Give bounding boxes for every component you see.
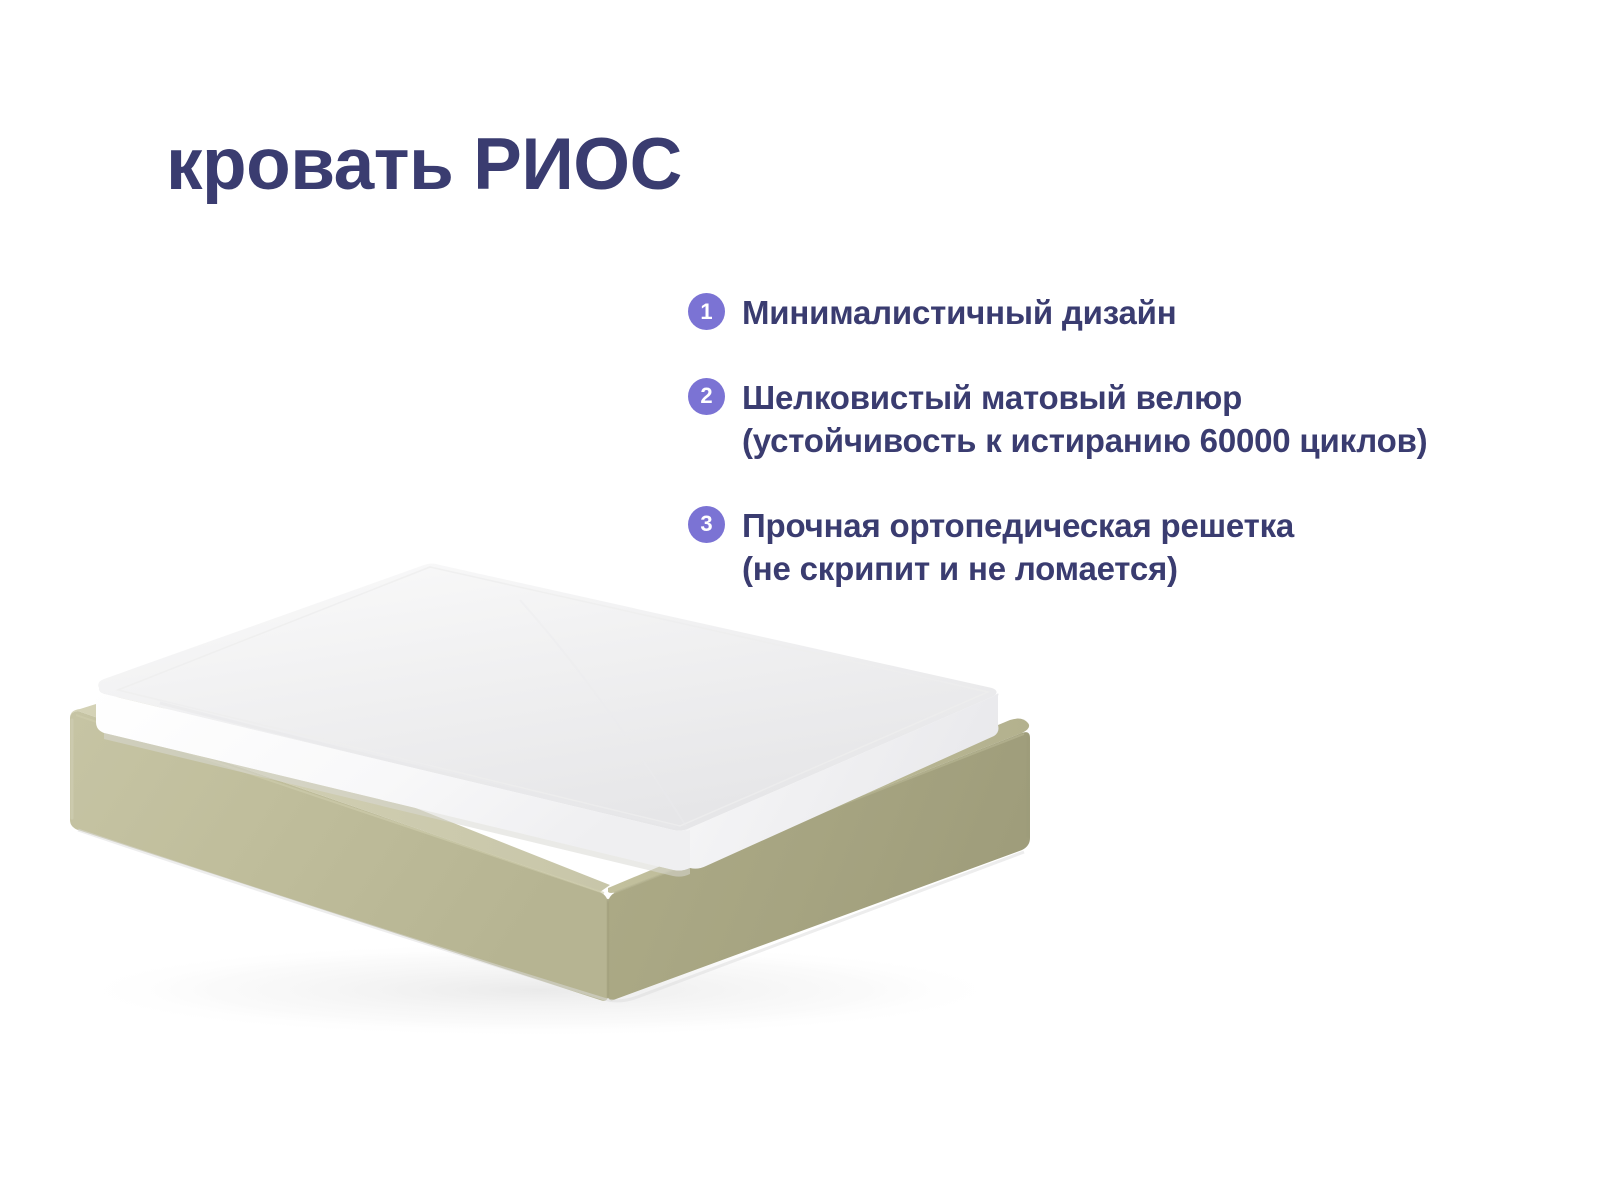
feature-line-3a: Прочная ортопедическая решетка	[742, 507, 1294, 544]
feature-line-1a: Минималистичный дизайн	[742, 294, 1176, 331]
feature-badge-1: 1	[688, 293, 725, 330]
feature-text-1: Минималистичный дизайн	[742, 292, 1176, 335]
feature-item-2: 2 Шелковистый матовый велюр (устойчивост…	[688, 377, 1508, 463]
bed-render-svg	[0, 540, 1120, 1100]
page-title: кровать РИОС	[166, 128, 682, 201]
feature-text-2: Шелковистый матовый велюр (устойчивость …	[742, 377, 1427, 463]
feature-line-2a: Шелковистый матовый велюр	[742, 379, 1242, 416]
bed-product-image	[0, 540, 1120, 1100]
feature-badge-2: 2	[688, 378, 725, 415]
feature-line-2b: (устойчивость к истиранию 60000 циклов)	[742, 420, 1427, 463]
feature-badge-3: 3	[688, 506, 725, 543]
feature-item-1: 1 Минималистичный дизайн	[688, 292, 1508, 335]
product-banner: кровать РИОС 1 Минималистичный дизайн 2 …	[0, 0, 1600, 1200]
